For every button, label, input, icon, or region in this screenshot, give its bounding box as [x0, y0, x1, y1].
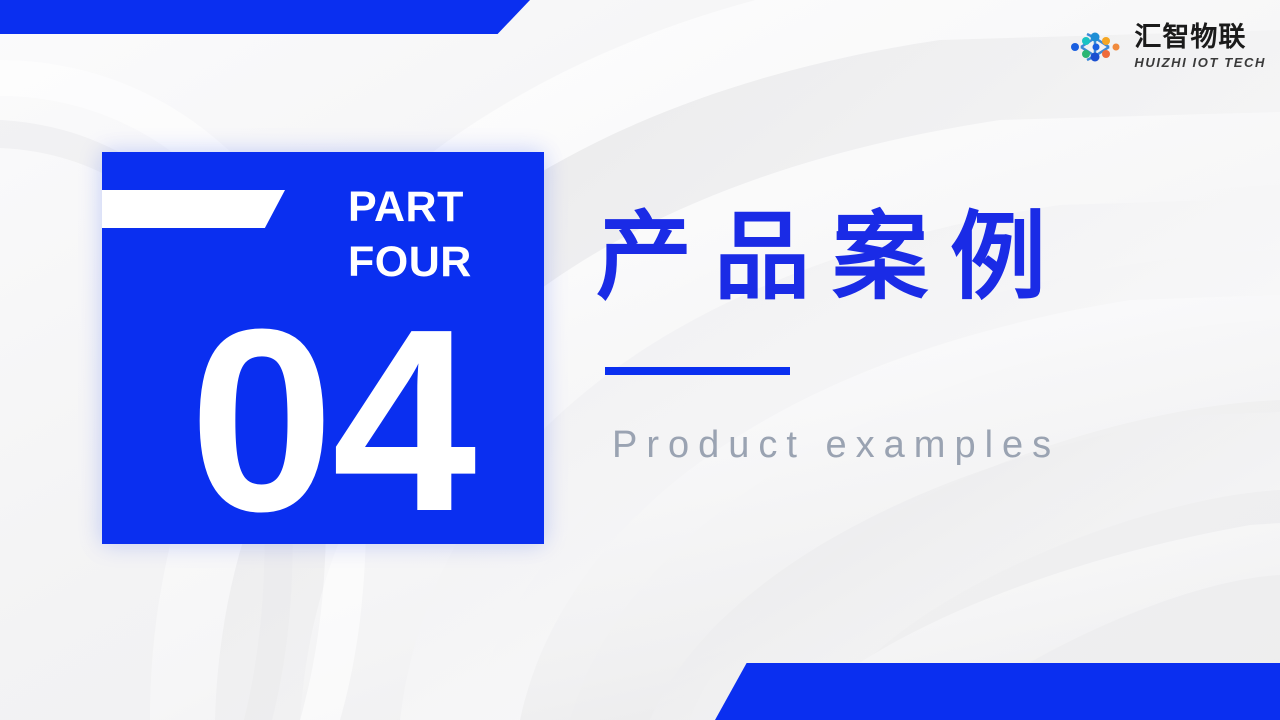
section-number: 04 — [102, 302, 562, 541]
part-label-line1: PART — [348, 183, 464, 231]
page-subtitle: Product examples — [612, 424, 1060, 467]
logo-name-cn: 汇智物联 — [1134, 24, 1266, 51]
bottom-right-blue-bar — [715, 663, 1280, 720]
heading-underline-rule — [605, 367, 790, 375]
slide-root: PART FOUR 04 产品案例 Product examples — [0, 0, 1280, 720]
section-number-panel: PART FOUR 04 — [102, 152, 544, 544]
logo-name-en: HUIZHI IOT TECH — [1134, 56, 1266, 69]
molecule-network-logo-icon — [1066, 26, 1126, 68]
page-title: 产品案例 — [596, 203, 1068, 313]
part-label-line2: FOUR — [348, 235, 538, 290]
company-logo: 汇智物联 HUIZHI IOT TECH — [1066, 24, 1266, 69]
top-left-blue-bar — [0, 0, 530, 34]
part-label: PART FOUR — [348, 180, 538, 290]
logo-text: 汇智物联 HUIZHI IOT TECH — [1134, 24, 1266, 69]
white-slash-accent — [102, 190, 285, 228]
